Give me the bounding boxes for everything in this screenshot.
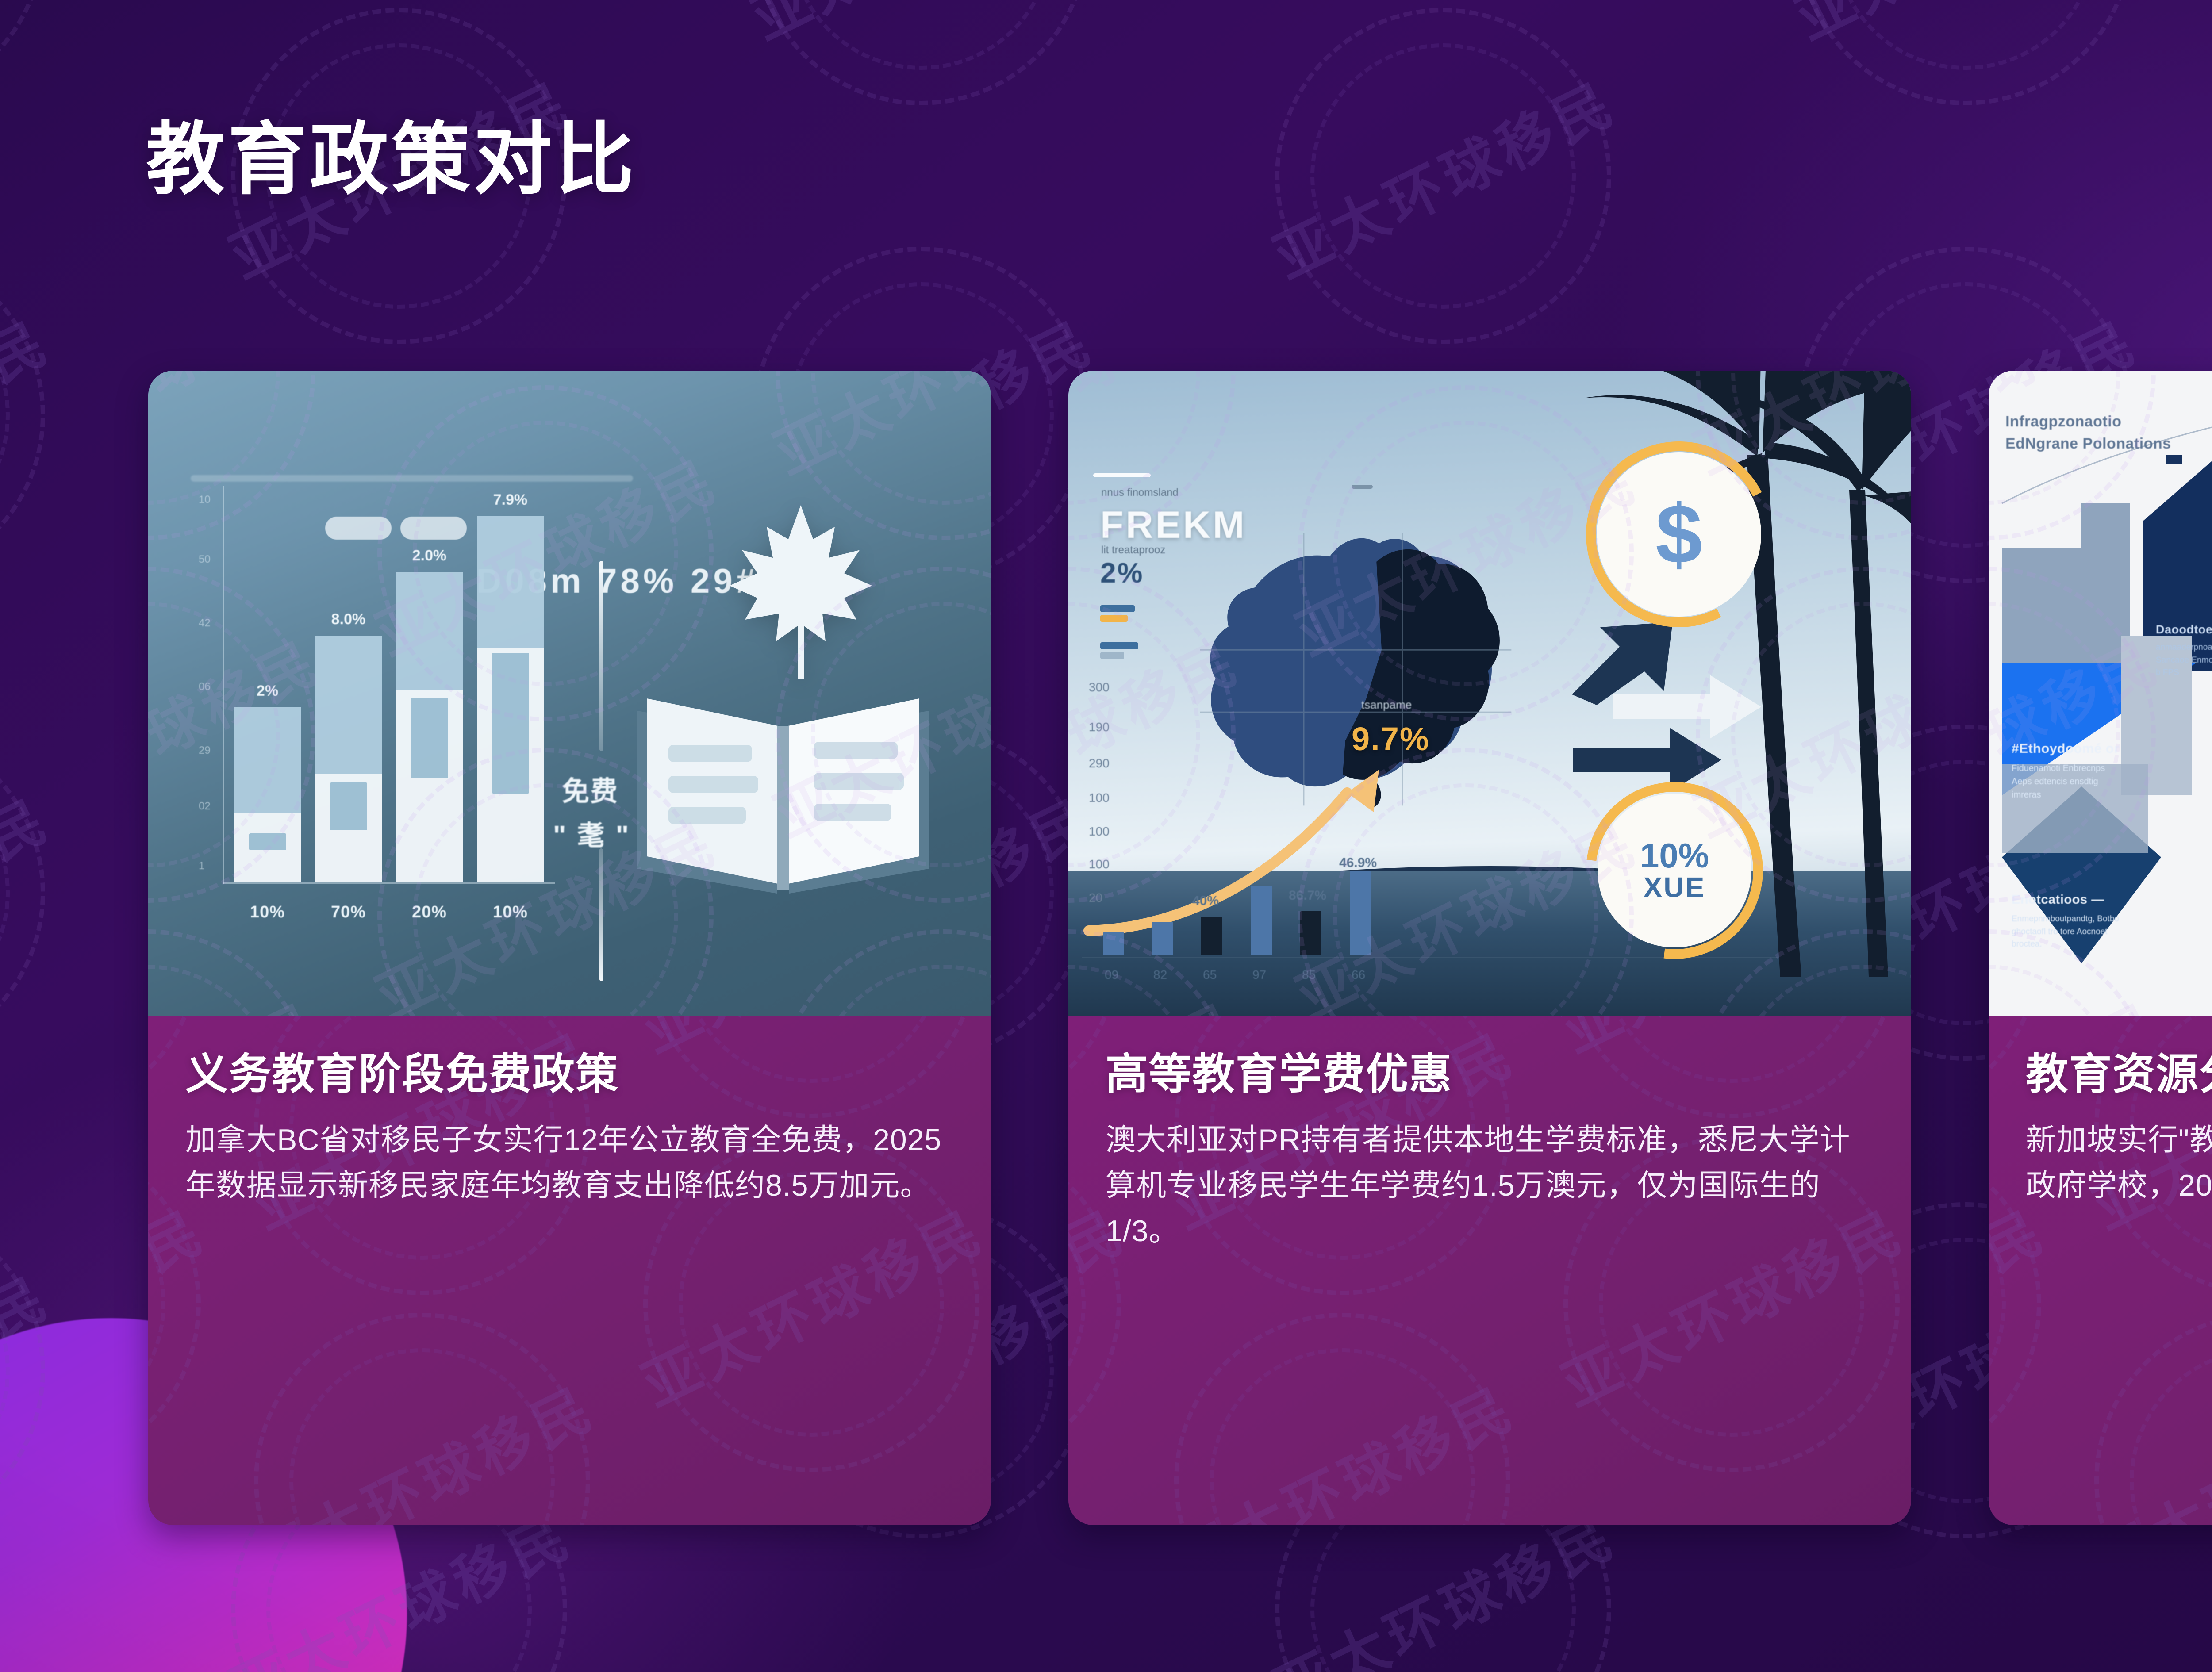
x-tick: 65 (1203, 968, 1217, 982)
table-row (1152, 922, 1173, 955)
y-tick: 50 (199, 553, 211, 566)
legend-bar-2 (1100, 615, 1128, 622)
page-title: 教育政策对比 (146, 120, 637, 199)
legend-bar-4 (1100, 652, 1124, 659)
chart-x-labels: 10% 70% 20% 10% (227, 903, 551, 922)
arrow-right-dark-icon (1573, 725, 1723, 795)
divider-label-free: 免费 (562, 769, 618, 809)
card-media-canada: D08m 78% 29# 08 10 50 42 06 29 02 1 2% (148, 371, 991, 1016)
policy-card[interactable]: Infragpzonaotio EdNgrane Polonations Mai… (1989, 371, 2212, 1525)
dollar-coin-badge: $ (1586, 441, 1772, 627)
chart-bars: 2% 8.0% 2.0% (227, 484, 551, 882)
infographic-heading-1: Infragpzonaotio (2005, 413, 2191, 430)
bar-value-label: 8.0% (331, 611, 366, 628)
block-body: Fiduenamoti Enbrecnps Aeps edtencis ensd… (2012, 762, 2127, 801)
table-row (1103, 932, 1124, 955)
y-tick: 42 (199, 617, 211, 629)
open-book-icon (628, 658, 938, 906)
card-title: 教育资源分配机制 (2026, 1051, 2212, 1098)
bar-value-label: 86.7% (1289, 888, 1326, 903)
watermark-text: 亚太环球移民 (1068, 371, 1252, 490)
bar-value-label: 2% (257, 683, 278, 700)
card-title: 义务教育阶段免费政策 (185, 1051, 954, 1098)
watermark-text: 亚太环球移民 (1157, 1363, 1527, 1525)
maple-leaf-icon (721, 499, 880, 685)
policy-card[interactable]: D08m 78% 29# 08 10 50 42 06 29 02 1 2% (148, 371, 991, 1525)
y-tick: 10 (199, 494, 211, 506)
table-row: 2% (234, 707, 301, 882)
accent-rule (1093, 473, 1151, 477)
slide-canvas: 亚太环球移民亚太环球移民亚太环球移民亚太环球移民亚太环球移民亚太环球移民亚太环球… (0, 0, 2212, 1672)
y-tick: 06 (199, 681, 211, 693)
y-tick: 300 (1089, 680, 1110, 694)
card-description: 澳大利亚对PR持有者提供本地生学费标准，悉尼大学计算机专业移民学生年学费约1.5… (1106, 1117, 1874, 1254)
bar-value-label: 7.9% (493, 491, 528, 509)
block-body: anmaaderpnoaonti Sancaoe Enmoeetalocaoid… (2156, 641, 2212, 679)
x-tick: 85 (1302, 968, 1316, 982)
card-description: 新加坡实行"教育分流"制度，移民子女可凭AEIS考试进入政府学校，2025年通过… (2026, 1117, 2212, 1209)
y-tick: 190 (1089, 720, 1110, 734)
x-tick: 82 (1153, 968, 1167, 982)
badge-label: XUE (1644, 873, 1706, 902)
chart-x-axis (223, 882, 555, 884)
watermark-text: 亚太环球移民 (626, 1186, 991, 1423)
x-tick: 09 (1105, 968, 1118, 982)
bar-chart-canada: 10 50 42 06 29 02 1 2% 8.0% (197, 486, 555, 884)
chart-y-axis (223, 486, 224, 884)
y-tick: 1 (199, 860, 204, 872)
watermark-text: 亚太环球移民 (1989, 1186, 2058, 1423)
legend-bar-3 (1100, 642, 1138, 649)
card-description: 加拿大BC省对移民子女实行12年公立教育全免费，2025年数据显示新移民家庭年均… (185, 1117, 954, 1209)
table-row (1300, 911, 1321, 955)
watermark-text: 亚太环球移民 (237, 1363, 607, 1525)
block-label: Enotcatioos — (2012, 893, 2135, 907)
card-title: 高等教育学费优惠 (1106, 1051, 1874, 1098)
discount-badge: 10% XUE (1586, 782, 1763, 959)
card-body: 亚太环球移民亚太环球移民亚太环球移民亚太环球移民亚太环球移民亚太环球移民 高等教… (1068, 1016, 1911, 1525)
x-tick: 20% (396, 903, 463, 922)
legend-bar-1 (1100, 605, 1135, 612)
x-tick: 10% (477, 903, 544, 922)
map-callout-caption: tsanpame (1361, 698, 1412, 712)
block-body: Enmepnrnboutpandtg, Botbo ghoctaofl tro … (2012, 913, 2127, 951)
table-row (1350, 871, 1371, 955)
table-row (1251, 886, 1272, 955)
card-media-australia: nnus finomsland FREKM lit treataprooz 2%… (1068, 371, 1911, 1016)
watermark-text: 亚太环球移民 (148, 371, 332, 490)
x-tick: 97 (1252, 968, 1266, 982)
card-body: 亚太环球移民亚太环球移民亚太环球移民亚太环球移民亚太环球移民亚太环球移民 教育资… (1989, 1016, 2212, 1525)
vertical-divider-top (599, 561, 603, 751)
policy-card[interactable]: nnus finomsland FREKM lit treataprooz 2%… (1068, 371, 1911, 1525)
y-tick: 02 (199, 800, 211, 813)
policy-card-grid: D08m 78% 29# 08 10 50 42 06 29 02 1 2% (148, 371, 2212, 1525)
divider-label-quoted: " 耄 " (553, 813, 630, 853)
bar-value-label: 46.9% (1339, 855, 1377, 871)
watermark-text: 亚太环球移民 (148, 1186, 218, 1423)
watermark-text: 亚太环球移民 (148, 979, 332, 1016)
vertical-divider-bottom (599, 848, 603, 981)
badge-value: 10% (1640, 838, 1709, 873)
ghost-header-text (191, 475, 633, 482)
block-label: Daoodtoenaimotdfale (2156, 623, 2212, 637)
y-tick: 29 (199, 744, 211, 757)
table-row (1201, 917, 1222, 955)
bar-value-label: 2.0% (412, 547, 447, 564)
infographic-heading-2: EdNgrane Polonations (2005, 435, 2212, 453)
dollar-sign-icon: $ (1597, 452, 1761, 617)
x-tick: 70% (315, 903, 382, 922)
table-row: 7.9% (477, 516, 544, 882)
card-media-infographic: Infragpzonaotio EdNgrane Polonations Mai… (1989, 371, 2212, 1016)
table-row: 2.0% (396, 572, 463, 882)
card-body: 亚太环球移民亚太环球移民亚太环球移民亚太环球移民亚太环球移民亚太环球移民 义务教… (148, 1016, 991, 1525)
watermark-text: 亚太环球移民 (759, 979, 991, 1016)
watermark-text: 亚太环球移民 (759, 371, 991, 490)
watermark-text: 亚太环球移民 (2078, 1363, 2212, 1525)
bar-value-label: 40% (1192, 894, 1219, 909)
percent-metric: 2% (1100, 556, 1144, 589)
table-row: 8.0% (315, 636, 382, 882)
x-tick: 10% (234, 903, 301, 922)
block-label: #Ethoydoomé or (2012, 741, 2135, 756)
x-tick: 66 (1352, 968, 1365, 982)
